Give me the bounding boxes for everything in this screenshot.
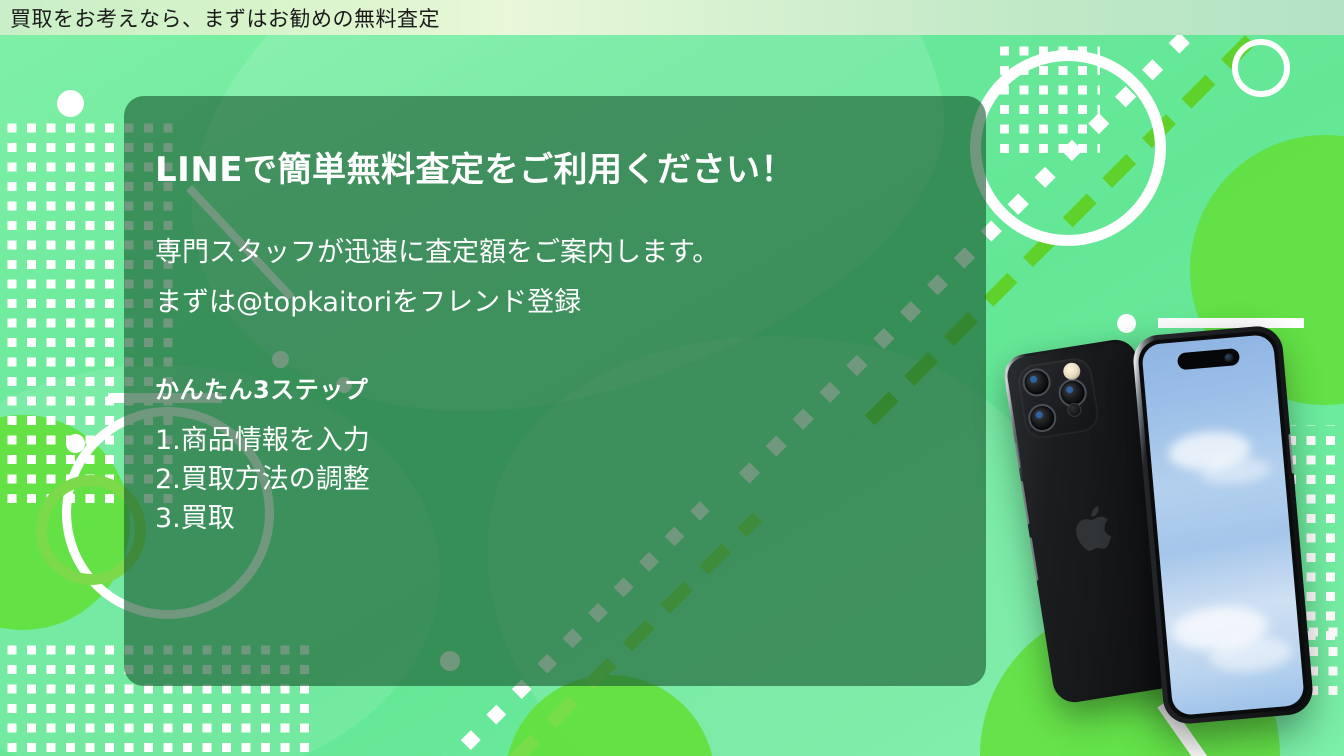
promo-card-heading: LINEで簡単無料査定をご利用ください！ <box>155 152 986 189</box>
promo-card: LINEで簡単無料査定をご利用ください！ 専門スタッフが迅速に査定額をご案内しま… <box>124 96 986 686</box>
page-header-bar: 買取をお考えなら、まずはお勧めの無料査定 <box>0 0 1344 35</box>
phone-side-button <box>1288 434 1295 474</box>
product-image-phones <box>1000 330 1344 756</box>
camera-module-icon <box>1016 356 1101 441</box>
front-camera-icon <box>1224 352 1234 362</box>
camera-lens-icon <box>1026 402 1058 434</box>
white-bar-icon <box>1158 318 1304 328</box>
lens-glint <box>1030 375 1038 383</box>
white-dot-icon <box>66 434 85 453</box>
white-ring-icon <box>970 50 1166 246</box>
lens-glint <box>1066 386 1074 394</box>
green-circle-icon <box>0 415 130 630</box>
white-ring-small-icon <box>1232 39 1290 97</box>
dot-grid-icon <box>1000 45 1100 153</box>
iphone-screen <box>1141 334 1305 716</box>
page-root: 買取をお考えなら、まずはお勧めの無料査定 <box>0 0 1344 756</box>
lens-glint <box>1035 411 1043 419</box>
step-item: 1.商品情報を入力 <box>155 427 986 454</box>
apple-logo-icon <box>1070 500 1122 558</box>
promo-card-body-line: まずは@topkaitoriをフレンド登録 <box>155 278 986 328</box>
promo-card-body: 専門スタッフが迅速に査定額をご案内します。 まずは@topkaitoriをフレン… <box>155 228 986 328</box>
step-item: 3.買取 <box>155 505 986 532</box>
step-item: 2.買取方法の調整 <box>155 466 986 493</box>
promo-card-body-line: 専門スタッフが迅速に査定額をご案内します。 <box>155 228 986 278</box>
camera-lens-icon <box>1021 366 1053 398</box>
page-header-title: 買取をお考えなら、まずはお勧めの無料査定 <box>0 3 440 33</box>
dynamic-island-icon <box>1177 348 1240 370</box>
white-dot-icon <box>57 90 84 117</box>
green-circle-icon <box>505 675 715 756</box>
steps-list: 1.商品情報を入力 2.買取方法の調整 3.買取 <box>155 427 986 532</box>
iphone-front-bezel <box>1137 330 1310 721</box>
steps-title: かんたん3ステップ <box>155 370 986 405</box>
camera-flash-icon <box>1062 362 1081 381</box>
